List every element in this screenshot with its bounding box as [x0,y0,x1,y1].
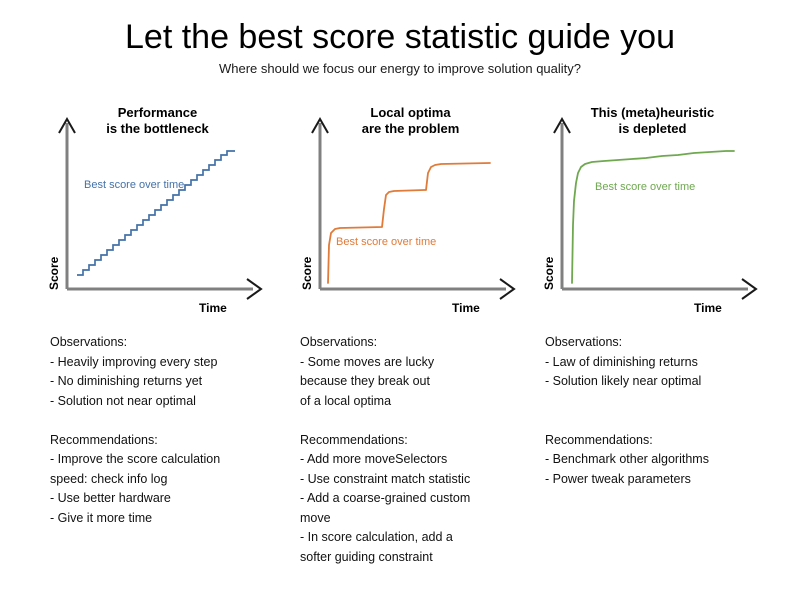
series-line-depleted [572,151,734,283]
observation-item: of a local optima [300,392,525,412]
observation-item: because they break out [300,372,525,392]
recommendation-item: - Benchmark other algorithms [545,450,780,470]
y-axis-label: Score [47,257,61,290]
observation-item: - Heavily improving every step [50,353,285,373]
x-axis-label: Time [452,301,480,315]
notes-column-depleted: Observations: - Law of diminishing retur… [545,333,780,489]
notes-column-local-optima: Observations: - Some moves are lucky bec… [300,333,525,567]
recommendation-item: speed: check info log [50,470,285,490]
chart-panel-performance: Performance is the bottleneck Score Time… [25,105,290,320]
series-label-local-optima: Best score over time [336,236,436,248]
notes-column-performance: Observations: - Heavily improving every … [50,333,285,528]
page-title: Let the best score statistic guide you [0,18,800,57]
recommendations-heading: Recommendations: [545,431,780,451]
recommendation-item: - Use better hardware [50,489,285,509]
recommendation-item: - Give it more time [50,509,285,529]
chart-panel-depleted: This (meta)heuristic is depleted Score T… [520,105,785,320]
series-label-performance: Best score over time [84,179,184,191]
x-axis-label: Time [199,301,227,315]
chart-plot-local-optima [278,105,543,320]
recommendation-item: move [300,509,525,529]
observations-heading: Observations: [50,333,285,353]
section-spacer [50,411,285,431]
observation-item: - Solution not near optimal [50,392,285,412]
recommendation-item: - In score calculation, add a [300,528,525,548]
recommendation-item: - Use constraint match statistic [300,470,525,490]
recommendations-heading: Recommendations: [300,431,525,451]
chart-plot-performance [25,105,290,320]
recommendation-item: - Power tweak parameters [545,470,780,490]
recommendation-item: - Improve the score calculation [50,450,285,470]
y-axis-label: Score [542,257,556,290]
x-axis-label: Time [694,301,722,315]
y-axis-label: Score [300,257,314,290]
recommendation-item: softer guiding constraint [300,548,525,568]
observation-item: - Solution likely near optimal [545,372,780,392]
chart-panel-local-optima: Local optima are the problem Score Time … [278,105,543,320]
section-spacer [545,411,780,431]
recommendations-heading: Recommendations: [50,431,285,451]
series-line-local-optima [328,163,490,283]
observation-item: - Law of diminishing returns [545,353,780,373]
observation-item: - Some moves are lucky [300,353,525,373]
section-spacer [545,392,780,412]
recommendation-item: - Add a coarse-grained custom [300,489,525,509]
series-label-depleted: Best score over time [595,181,695,193]
section-spacer [300,411,525,431]
slide-canvas: Let the best score statistic guide you W… [0,0,800,600]
chart-plot-depleted [520,105,785,320]
page-subtitle: Where should we focus our energy to impr… [0,61,800,76]
observations-heading: Observations: [545,333,780,353]
series-line-performance [77,151,235,275]
recommendation-item: - Add more moveSelectors [300,450,525,470]
observations-heading: Observations: [300,333,525,353]
observation-item: - No diminishing returns yet [50,372,285,392]
